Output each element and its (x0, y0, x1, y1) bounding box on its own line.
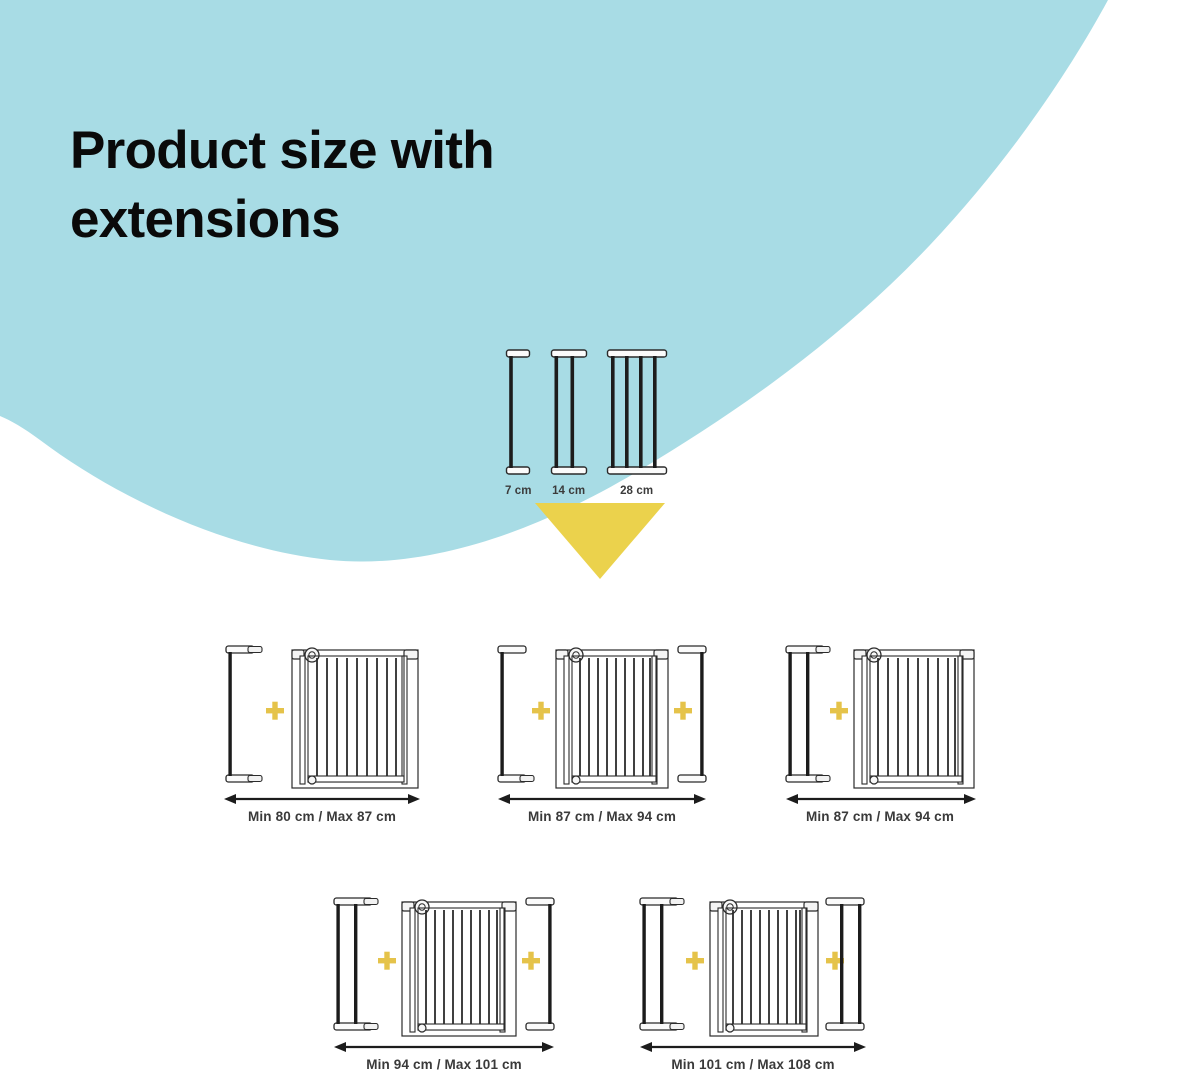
config-row-top: Min 80 cm / Max 87 cm (0, 636, 1200, 824)
dimension-arrow (640, 1042, 866, 1052)
safety-gate-icon (292, 648, 418, 788)
gate-config-diagram (636, 888, 870, 1056)
down-triangle-icon (535, 503, 665, 579)
safety-gate-icon (402, 900, 516, 1036)
plus-icon (266, 702, 284, 720)
page-title-line-2: extensions (70, 185, 690, 255)
dimension-arrow (786, 794, 976, 804)
left-extension-icon (640, 898, 684, 1030)
right-extension-icon (826, 898, 864, 1030)
gate-config-diagram (494, 636, 710, 808)
left-extension-icon (226, 646, 262, 782)
config-caption: Min 94 cm / Max 101 cm (366, 1057, 522, 1072)
gate-config-diagram (330, 888, 558, 1056)
gate-extension-icon (505, 344, 531, 480)
plus-icon (532, 702, 550, 720)
extensions-legend: 7 cm 14 cm 28 cm (505, 332, 700, 497)
gate-config-diagram (222, 636, 422, 808)
dimension-arrow (334, 1042, 554, 1052)
plus-icon (830, 702, 848, 720)
config-block: Min 101 cm / Max 108 cm (636, 888, 870, 1072)
extension-legend-item: 7 cm (505, 344, 532, 497)
config-caption: Min 80 cm / Max 87 cm (248, 809, 396, 824)
extension-legend-item: 14 cm (550, 344, 588, 497)
safety-gate-icon (556, 648, 668, 788)
config-caption: Min 101 cm / Max 108 cm (671, 1057, 834, 1072)
plus-icon (674, 702, 692, 720)
extension-legend-label: 14 cm (552, 485, 585, 497)
extension-legend-item: 28 cm (606, 344, 668, 497)
config-block: Min 80 cm / Max 87 cm (222, 636, 422, 824)
plus-icon (686, 952, 704, 970)
dimension-arrow (498, 794, 706, 804)
extension-legend-label: 28 cm (620, 485, 653, 497)
left-extension-icon (786, 646, 830, 782)
extension-legend-label: 7 cm (505, 485, 532, 497)
page-title-line-1: Product size with (70, 116, 690, 186)
config-caption: Min 87 cm / Max 94 cm (806, 809, 954, 824)
gate-extension-icon (550, 344, 588, 480)
plus-icon (522, 952, 540, 970)
config-block: Min 94 cm / Max 101 cm (330, 888, 558, 1072)
left-extension-icon (334, 898, 378, 1030)
config-block: Min 87 cm / Max 94 cm (782, 636, 978, 824)
config-row-bottom: Min 94 cm / Max 101 cm (0, 888, 1200, 1072)
dimension-arrow (224, 794, 420, 804)
gate-extension-icon (606, 344, 668, 480)
safety-gate-icon (854, 648, 974, 788)
config-caption: Min 87 cm / Max 94 cm (528, 809, 676, 824)
safety-gate-icon (710, 900, 818, 1036)
config-block: Min 87 cm / Max 94 cm (494, 636, 710, 824)
page-title: Product size with extensions (70, 116, 690, 256)
left-extension-icon (498, 646, 534, 782)
plus-icon (378, 952, 396, 970)
down-triangle-shape (535, 503, 665, 579)
gate-config-diagram (782, 636, 978, 808)
